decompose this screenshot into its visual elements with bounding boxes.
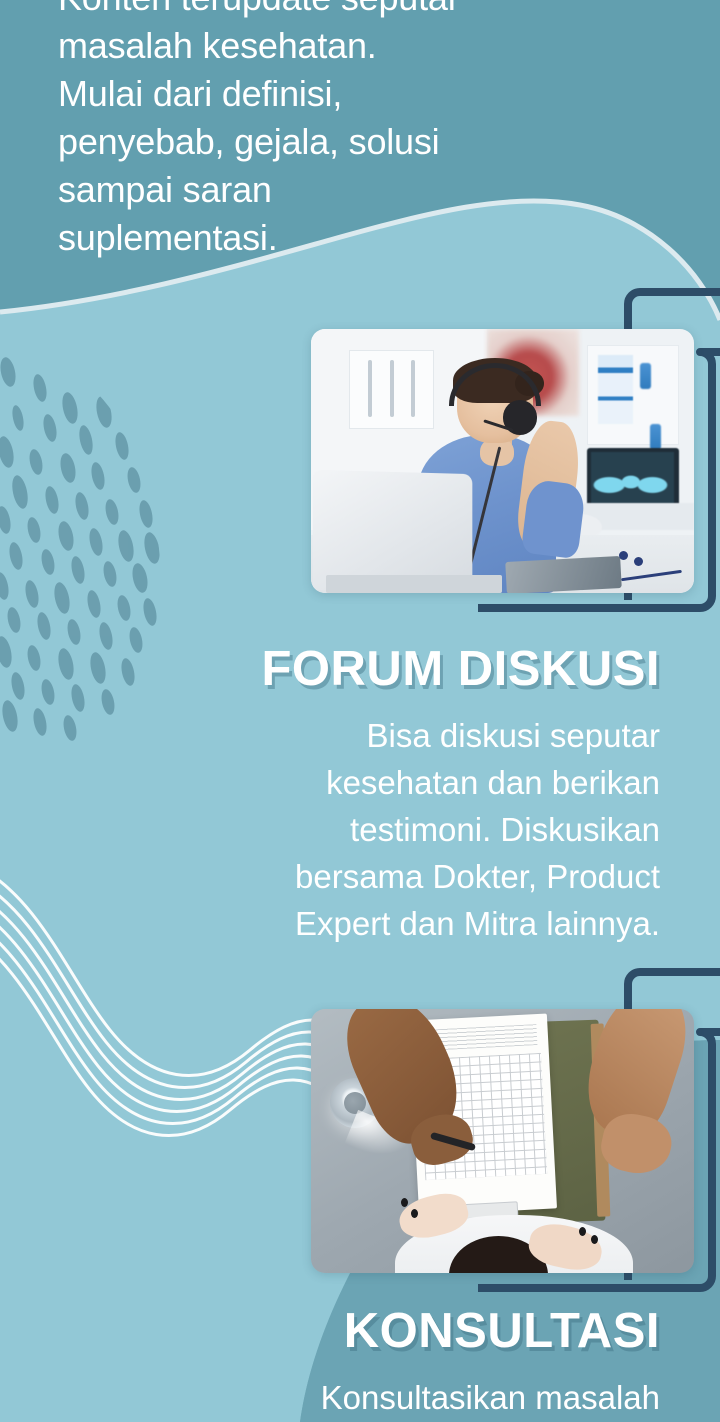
body-line: kesehatan dan berikan [60, 759, 660, 806]
section-body-forum-diskusi: Bisa diskusi seputar kesehatan dan berik… [60, 712, 660, 947]
intro-line-2: masalah kesehatan. [58, 22, 658, 70]
intro-line-1: Konten terupdate seputar [58, 0, 658, 22]
intro-line-6: suplementasi. [58, 214, 658, 262]
intro-line-3: Mulai dari definisi, [58, 70, 658, 118]
anatomy-poster-icon [349, 350, 433, 429]
section-title-forum-diskusi: FORUM DISKUSI [0, 641, 660, 697]
body-line: Expert dan Mitra lainnya. [60, 900, 660, 947]
body-line: testimoni. Diskusikan [60, 806, 660, 853]
overhead-consultation-illustration [311, 1009, 694, 1273]
body-line: bersama Dokter, Product [60, 853, 660, 900]
nurse-with-headset-illustration [311, 329, 694, 593]
intro-paragraph: Konten terupdate seputar masalah kesehat… [58, 0, 658, 262]
section-body-konsultasi: Konsultasikan masalah [60, 1374, 660, 1421]
forum-diskusi-photo [311, 329, 694, 593]
section-title-konsultasi: KONSULTASI [0, 1303, 660, 1359]
body-line: Konsultasikan masalah [60, 1374, 660, 1421]
konsultasi-photo [311, 1009, 694, 1273]
intro-line-4: penyebab, gejala, solusi [58, 118, 658, 166]
poster-canvas: Konten terupdate seputar masalah kesehat… [0, 0, 720, 1422]
stethoscope-icon [614, 551, 683, 567]
intro-line-5: sampai saran [58, 166, 658, 214]
body-line: Bisa diskusi seputar [60, 712, 660, 759]
laptop-icon [313, 469, 473, 590]
